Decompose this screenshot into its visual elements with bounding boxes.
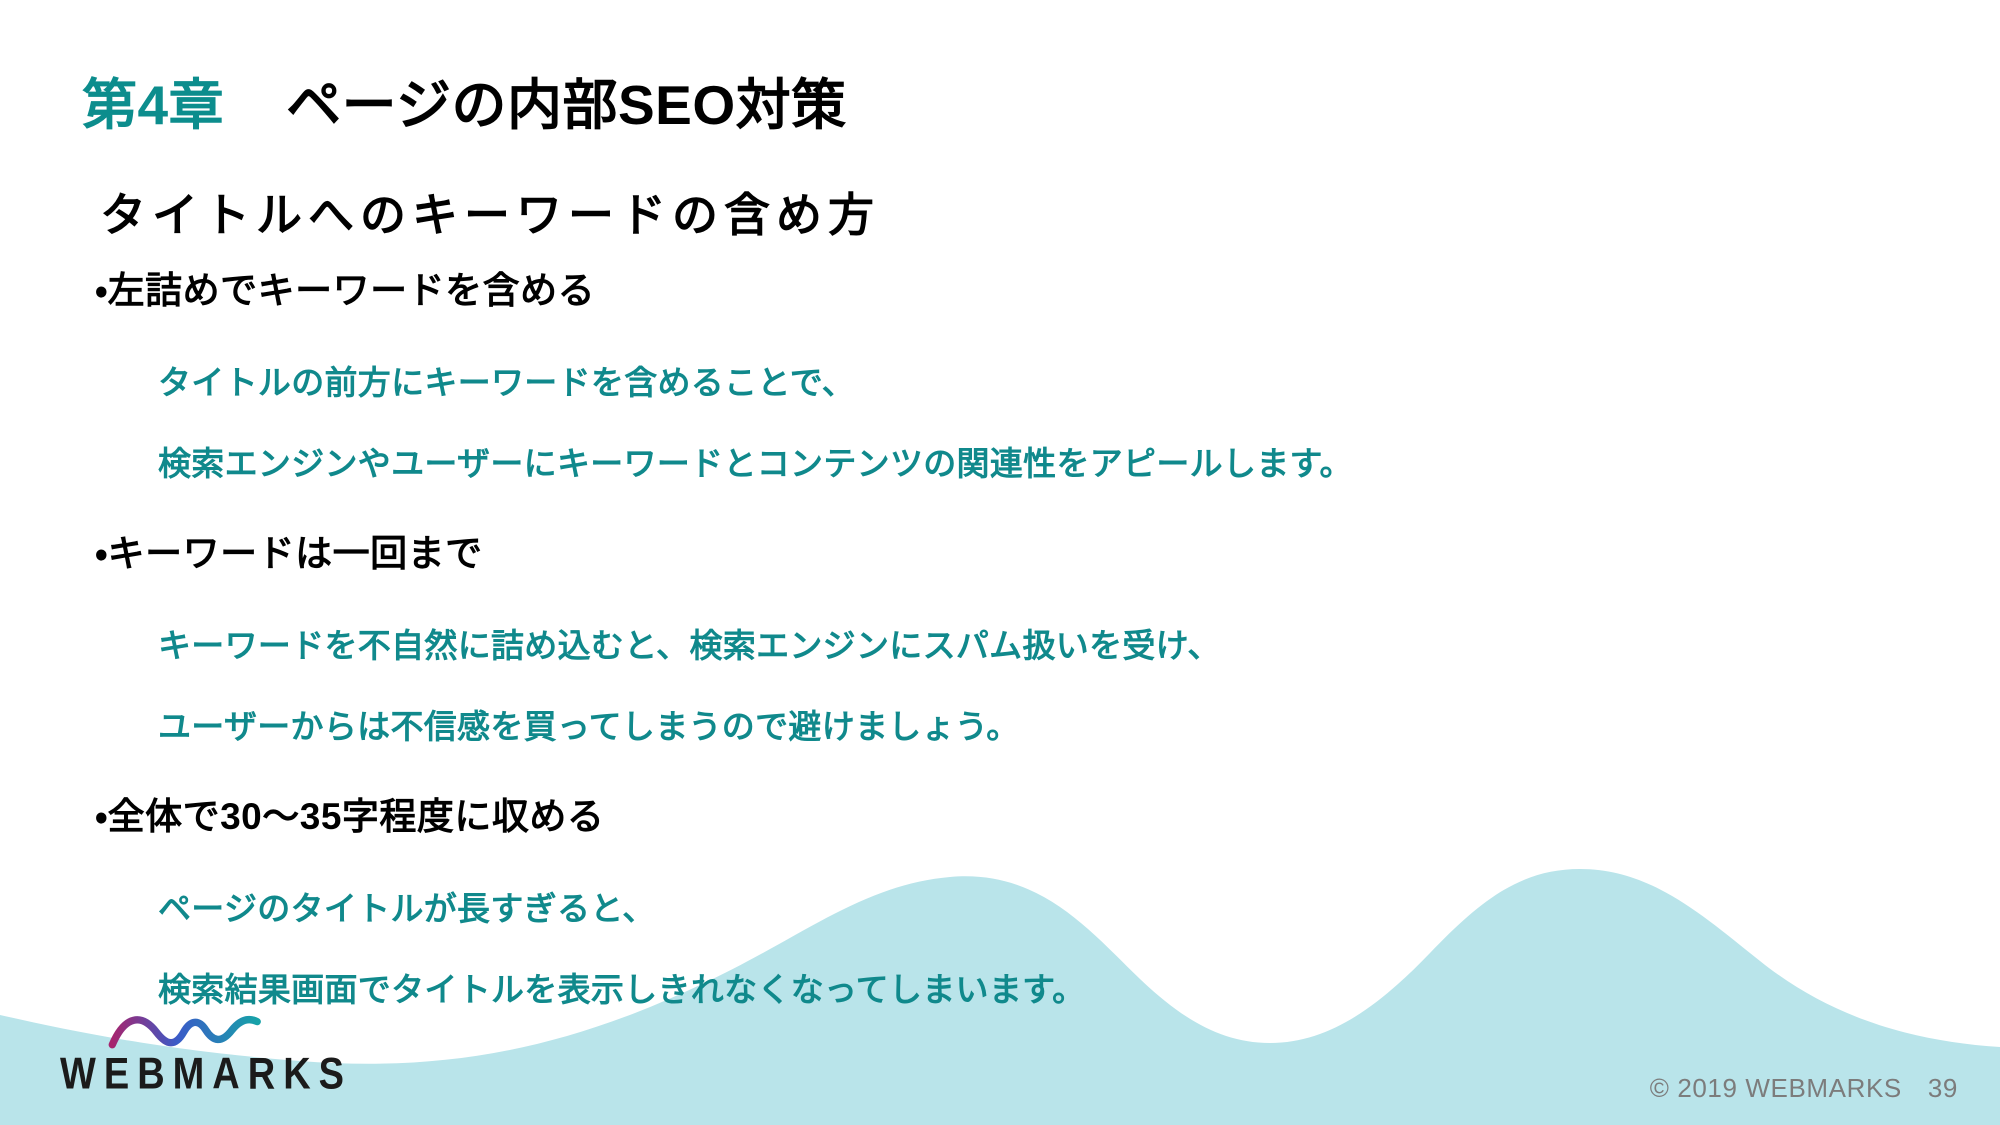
content-body: ・左詰めでキーワードを含める タイトルの前方にキーワードを含めることで、 検索エ… [0, 272, 2000, 1006]
description-line: 検索結果画面でタイトルを表示しきれなくなってしまいます。 [0, 973, 2000, 1006]
bullet-marker-icon: ・ [95, 270, 108, 311]
subtitle: タイトルへのキーワードの含め方 [100, 192, 880, 238]
copyright-text: © 2019 WEBMARKS [1650, 1075, 1902, 1101]
description-line: ページのタイトルが長すぎると、 [0, 892, 2000, 925]
bullet-heading: ・キーワードは一回まで [0, 535, 2000, 572]
description-line: タイトルの前方にキーワードを含めることで、 [0, 366, 2000, 399]
slide-footer: © 2019 WEBMARKS 39 [1650, 1075, 1958, 1101]
bullet-heading-label: キーワードは一回まで [108, 533, 483, 574]
bullet-heading-label: 左詰めでキーワードを含める [108, 270, 596, 311]
bullet-heading: ・左詰めでキーワードを含める [0, 272, 2000, 309]
bullet-marker-icon: ・ [95, 796, 108, 837]
content-block: ・全体で30〜35字程度に収める ページのタイトルが長すぎると、 検索結果画面で… [0, 798, 2000, 1006]
content-block: ・左詰めでキーワードを含める タイトルの前方にキーワードを含めることで、 検索エ… [0, 272, 2000, 480]
brand-logo: WEBMARKS [60, 1009, 280, 1097]
wave-mark-icon [106, 1009, 264, 1051]
description-line: キーワードを不自然に詰め込むと、検索エンジンにスパム扱いを受け、 [0, 629, 2000, 662]
description-line: ユーザーからは不信感を買ってしまうので避けましょう。 [0, 710, 2000, 743]
title-text: ページの内部SEO対策 [286, 78, 847, 133]
slide-canvas: 第4章 ページの内部SEO対策 タイトルへのキーワードの含め方 ・左詰めでキーワ… [0, 0, 2000, 1125]
page-title: 第4章 ページの内部SEO対策 [82, 78, 847, 133]
page-number: 39 [1928, 1075, 1958, 1101]
bullet-heading: ・全体で30〜35字程度に収める [0, 798, 2000, 835]
bullet-heading-label: 全体で30〜35字程度に収める [108, 796, 605, 837]
content-block: ・キーワードは一回まで キーワードを不自然に詰め込むと、検索エンジンにスパム扱い… [0, 535, 2000, 743]
chapter-label: 第4章 [82, 78, 224, 133]
description-line: 検索エンジンやユーザーにキーワードとコンテンツの関連性をアピールします。 [0, 447, 2000, 480]
bullet-marker-icon: ・ [95, 533, 108, 574]
brand-wordmark: WEBMARKS [60, 1052, 280, 1097]
